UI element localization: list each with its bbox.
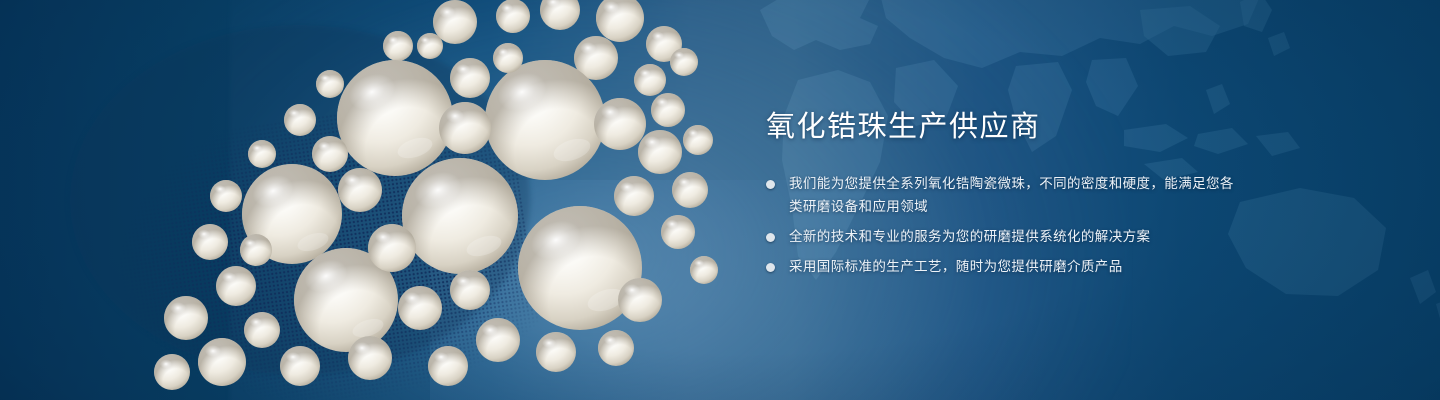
feature-list-item: 采用国际标准的生产工艺，随时为您提供研磨介质产品 (766, 255, 1236, 278)
bullet-dot-icon (766, 233, 775, 242)
feature-list-item: 我们能为您提供全系列氧化锆陶瓷微珠，不同的密度和硬度，能满足您各类研磨设备和应用… (766, 172, 1236, 218)
banner-headline: 氧化锆珠生产供应商 (766, 108, 1236, 146)
feature-list: 我们能为您提供全系列氧化锆陶瓷微珠，不同的密度和硬度，能满足您各类研磨设备和应用… (766, 172, 1236, 278)
feature-text: 我们能为您提供全系列氧化锆陶瓷微珠，不同的密度和硬度，能满足您各类研磨设备和应用… (789, 172, 1236, 218)
bullet-dot-icon (766, 263, 775, 272)
banner-copy: 氧化锆珠生产供应商 我们能为您提供全系列氧化锆陶瓷微珠，不同的密度和硬度，能满足… (766, 108, 1236, 278)
zirconia-beads-image (0, 0, 720, 400)
feature-list-item: 全新的技术和专业的服务为您的研磨提供系统化的解决方案 (766, 225, 1236, 248)
feature-text: 全新的技术和专业的服务为您的研磨提供系统化的解决方案 (789, 225, 1236, 248)
bullet-dot-icon (766, 180, 775, 189)
hero-banner: 氧化锆珠生产供应商 我们能为您提供全系列氧化锆陶瓷微珠，不同的密度和硬度，能满足… (0, 0, 1440, 400)
feature-text: 采用国际标准的生产工艺，随时为您提供研磨介质产品 (789, 255, 1236, 278)
